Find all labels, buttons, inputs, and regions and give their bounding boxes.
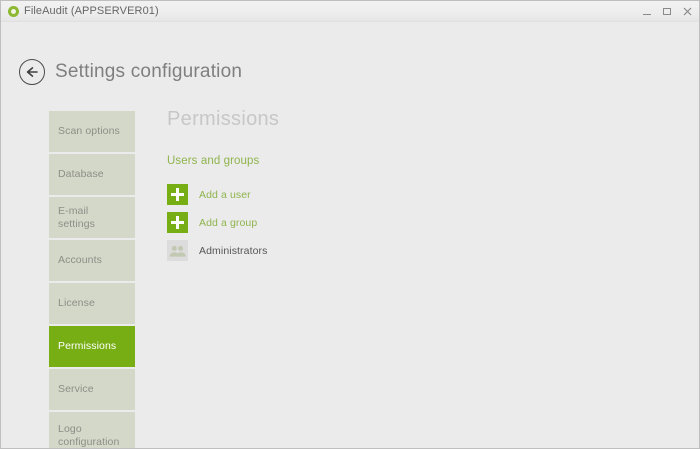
sidebar-item-label: Logo configuration (58, 423, 126, 449)
add-a-user-row[interactable]: Add a user (167, 184, 683, 205)
users-group-icon (167, 240, 188, 261)
sidebar-item-scan-options[interactable]: Scan options (49, 111, 135, 152)
sidebar-item-logo-configuration[interactable]: Logo configuration (49, 412, 135, 448)
plus-icon (167, 184, 188, 205)
back-arrow-icon (20, 60, 44, 84)
row-label: Add a group (199, 217, 257, 229)
sidebar-item-license[interactable]: License (49, 283, 135, 324)
sidebar-item-permissions[interactable]: Permissions (49, 326, 135, 367)
close-icon[interactable] (682, 6, 693, 17)
app-window: FileAudit (APPSERVER01) Settings configu (0, 0, 700, 449)
sidebar-item-label: E-mail settings (58, 205, 126, 231)
title-bar: FileAudit (APPSERVER01) (1, 1, 699, 22)
sidebar-item-email-settings[interactable]: E-mail settings (49, 197, 135, 238)
row-label: Add a user (199, 189, 251, 201)
add-a-group-row[interactable]: Add a group (167, 212, 683, 233)
sidebar-item-label: Permissions (58, 340, 116, 353)
page-title: Settings configuration (55, 61, 242, 83)
section-title-users-and-groups: Users and groups (167, 155, 683, 167)
row-label: Administrators (199, 245, 268, 257)
plus-icon (167, 212, 188, 233)
page-body: Settings configuration Scan options Data… (1, 22, 699, 448)
minimize-icon[interactable] (642, 6, 653, 17)
fileaudit-logo-icon (8, 6, 19, 17)
settings-content-panel: Permissions Users and groups Add a user … (167, 108, 683, 261)
sidebar-item-label: Scan options (58, 125, 120, 138)
sidebar-item-label: Database (58, 168, 104, 181)
window-title: FileAudit (APPSERVER01) (24, 5, 159, 17)
settings-sidebar: Scan options Database E-mail settings Ac… (49, 111, 135, 448)
permission-list: Add a user Add a group (167, 184, 683, 261)
window-controls (642, 1, 693, 22)
maximize-icon[interactable] (662, 6, 673, 17)
sidebar-item-label: License (58, 297, 95, 310)
page-header: Settings configuration (19, 48, 242, 95)
sidebar-item-label: Accounts (58, 254, 102, 267)
content-heading: Permissions (167, 108, 683, 131)
sidebar-item-accounts[interactable]: Accounts (49, 240, 135, 281)
sidebar-item-database[interactable]: Database (49, 154, 135, 195)
sidebar-item-service[interactable]: Service (49, 369, 135, 410)
list-item[interactable]: Administrators (167, 240, 683, 261)
back-button[interactable] (19, 59, 45, 85)
sidebar-item-label: Service (58, 383, 94, 396)
